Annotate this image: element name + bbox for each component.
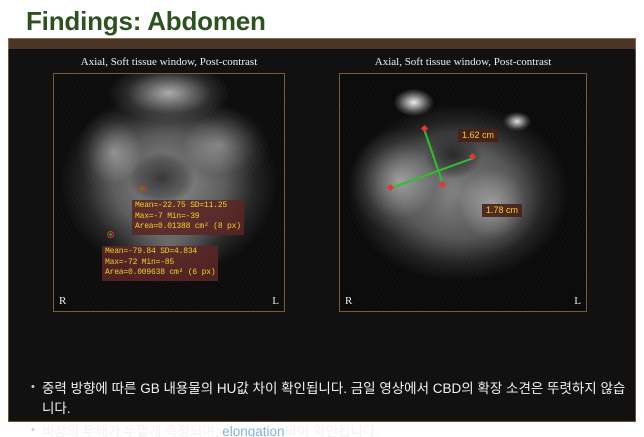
roi-marker-1: [139, 185, 146, 192]
roi-1-mean-sd: Mean=-22.75 SD=11.25: [135, 201, 241, 212]
findings-bullet-list: • 중력 방향에 따른 GB 내용물의 HU값 차이 확인됩니다. 금일 영상에…: [31, 379, 631, 437]
orientation-marker-right-left: R: [59, 295, 66, 307]
bullet-1-body: 중력 방향에 따른 GB 내용물의 HU값 차이 확인됩니다. 금일 영상에서 …: [42, 381, 625, 416]
accent-bar: [8, 38, 636, 49]
bullet-2-keyword: elongation: [222, 424, 284, 437]
roi-1-area: Area=0.01388 cm² (8 px): [135, 222, 241, 233]
figure-left: Axial, Soft tissue window, Post-contrast…: [53, 56, 285, 312]
bullet-2-body-before: 비장의 두께가 두껕게 측정되며,: [42, 424, 222, 437]
figure-right: Axial, Soft tissue window, Post-contrast…: [339, 56, 587, 312]
bullet-item-2: • 비장의 두께가 두껕게 측정되며, elongation되어 확인됩니다.: [31, 422, 631, 437]
ct-image-left: Mean=-22.75 SD=11.25 Max=-7 Min=-39 Area…: [53, 73, 285, 312]
presentation-slide: Findings: Abdomen Axial, Soft tissue win…: [0, 0, 644, 437]
orientation-marker-left-right: L: [272, 295, 279, 307]
measurement-label-1: 1.62 cm: [458, 129, 498, 142]
bullet-text-1: 중력 방향에 따른 GB 내용물의 HU값 차이 확인됩니다. 금일 영상에서 …: [42, 379, 631, 420]
measurement-label-2: 1.78 cm: [482, 204, 522, 217]
roi-marker-2: [107, 231, 114, 238]
ct-right-pixels: [340, 74, 586, 311]
ct-image-right: 1.62 cm 1.78 cm R L: [339, 73, 587, 312]
roi-stats-box-1: Mean=-22.75 SD=11.25 Max=-7 Min=-39 Area…: [132, 200, 244, 235]
roi-2-area: Area=0.009638 cm² (6 px): [105, 268, 215, 279]
roi-2-max-min: Max=-72 Min=-85: [105, 258, 215, 269]
roi-2-mean-sd: Mean=-79.84 SD=4.834: [105, 247, 215, 258]
content-panel: Axial, Soft tissue window, Post-contrast…: [8, 49, 636, 422]
orientation-marker-left-right-2: L: [574, 295, 581, 307]
roi-stats-box-2: Mean=-79.84 SD=4.834 Max=-72 Min=-85 Are…: [102, 246, 218, 281]
bullet-marker-2: •: [31, 422, 42, 437]
figure-right-caption: Axial, Soft tissue window, Post-contrast: [339, 56, 587, 68]
page-title: Findings: Abdomen: [26, 6, 266, 37]
title-area: Findings: Abdomen: [0, 0, 644, 40]
roi-1-max-min: Max=-7 Min=-39: [135, 212, 241, 223]
bullet-marker-1: •: [31, 379, 42, 397]
figure-left-caption: Axial, Soft tissue window, Post-contrast: [53, 56, 285, 68]
bullet-2-body-after: 되어 확인됩니다.: [285, 424, 379, 437]
bullet-text-2: 비장의 두께가 두껕게 측정되며, elongation되어 확인됩니다.: [42, 422, 631, 437]
bullet-item-1: • 중력 방향에 따른 GB 내용물의 HU값 차이 확인됩니다. 금일 영상에…: [31, 379, 631, 420]
orientation-marker-right-left-2: R: [345, 295, 352, 307]
